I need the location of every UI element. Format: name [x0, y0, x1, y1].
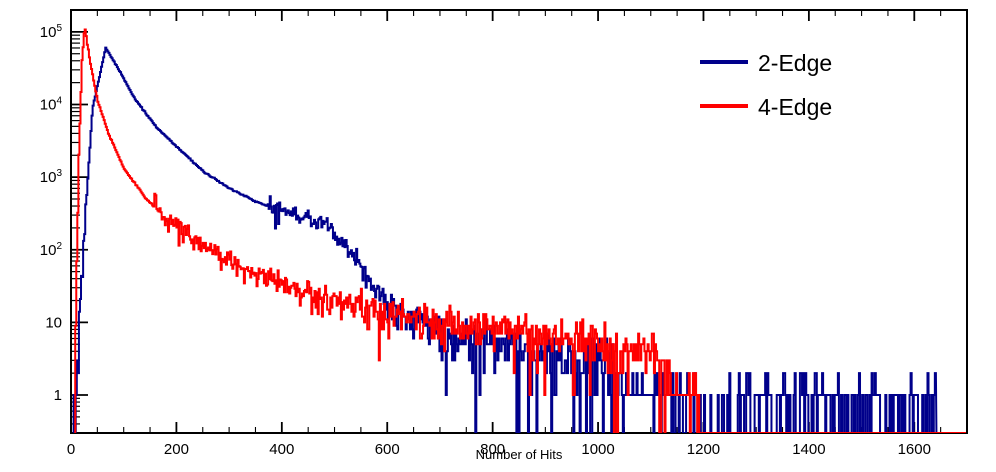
y-tick-label: 10 [45, 314, 62, 331]
x-tick-label: 1000 [581, 441, 614, 458]
y-tick-label: 1 [54, 387, 62, 404]
x-tick-label: 200 [164, 441, 189, 458]
x-tick-label: 0 [67, 441, 75, 458]
x-axis-title: Number of Hits [476, 447, 563, 462]
x-tick-label: 1200 [687, 441, 720, 458]
histogram-plot: 110102103104105 020040060080010001200140… [0, 0, 996, 472]
chart-canvas: 110102103104105 020040060080010001200140… [0, 0, 996, 472]
x-tick-label: 400 [269, 441, 294, 458]
legend-label-4-edge: 4-Edge [758, 94, 832, 120]
x-tick-label: 600 [375, 441, 400, 458]
x-tick-label: 1600 [898, 441, 931, 458]
x-tick-label: 1400 [792, 441, 825, 458]
legend-label-2-edge: 2-Edge [758, 50, 832, 76]
